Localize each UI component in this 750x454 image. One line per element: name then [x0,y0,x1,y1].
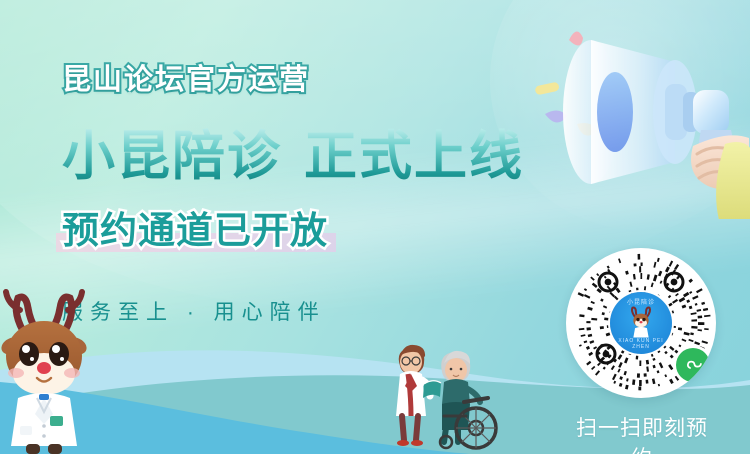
qr-logo-en: XIAO KUN PEI ZHEN [610,338,672,350]
doctor-and-patient-illustration [378,332,508,452]
headline-sub-wrap: 预约通道已开放 [62,200,328,254]
qr-section: 小昆陪诊 XIAO KUN PEI ZHEN 扫一扫即 [566,248,718,454]
doctor-illustration-icon [396,345,441,446]
banner-copy: 昆山论坛官方运营 小昆陪诊正式上线 小昆陪诊正式上线 预约通道已开放 服务至上 … [62,56,582,326]
qr-code-icon[interactable]: 小昆陪诊 XIAO KUN PEI ZHEN [566,248,716,398]
promo-banner: 昆山论坛官方运营 小昆陪诊正式上线 小昆陪诊正式上线 预约通道已开放 服务至上 … [0,0,750,454]
deer-mascot-icon [0,274,116,454]
wheelchair-patient-icon [440,351,496,448]
qr-logo-cn: 小昆陪诊 [610,297,672,306]
headline-main: 小昆陪诊正式上线 [62,114,582,190]
tagline: 服务至上 · 用心陪伴 [62,296,582,326]
headline-main-part1: 小昆陪诊 [62,127,282,186]
qr-caption: 扫一扫即刻预约 [566,412,718,454]
wechat-miniprogram-badge-icon[interactable] [676,348,710,382]
deer-logo-icon [624,306,658,340]
headline-sub: 预约通道已开放 [62,200,328,254]
qr-center-logo: 小昆陪诊 XIAO KUN PEI ZHEN [610,292,672,354]
headline-main-part2: 正式上线 [304,127,524,186]
headline-small: 昆山论坛官方运营 [62,56,582,98]
